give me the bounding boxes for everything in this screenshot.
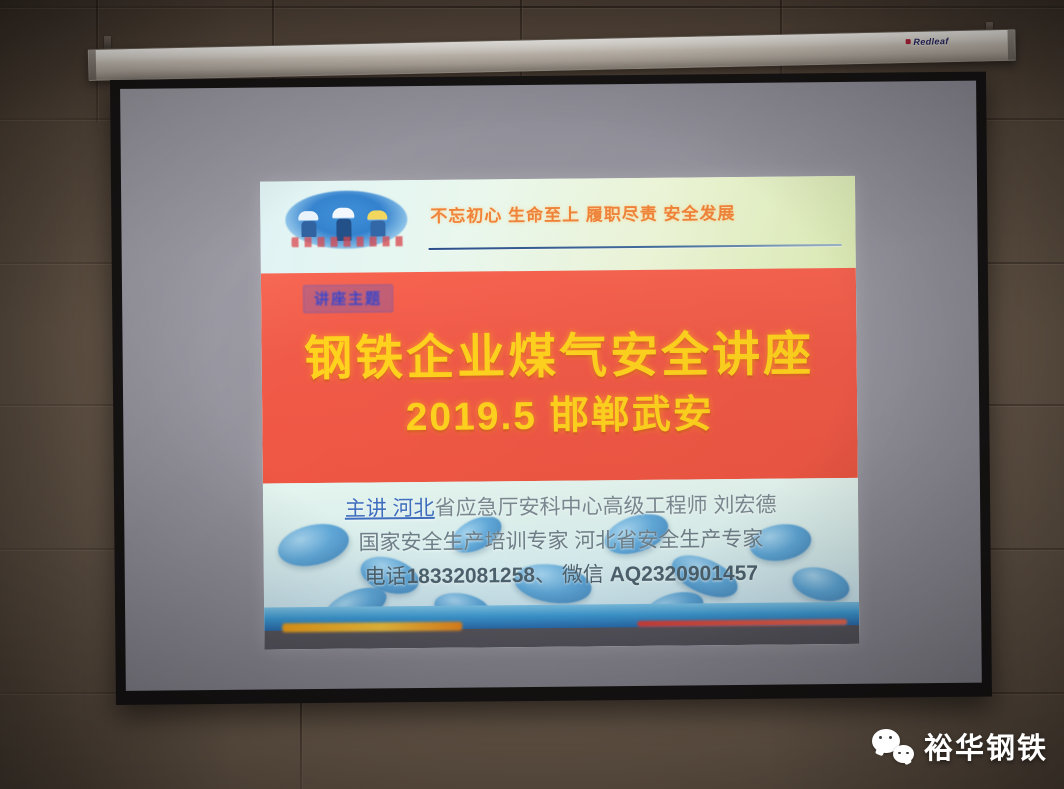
presentation-slide: 不忘初心 生命至上 履职尽责 安全发展 讲座主题 钢铁企业煤气安全讲座 2019… [260, 176, 859, 650]
channel-watermark: 裕华钢铁 [872, 725, 1048, 767]
watermark-text: 裕华钢铁 [924, 725, 1048, 767]
wechat-id: AQ2320901457 [610, 562, 759, 586]
casing-end-cap-left [89, 50, 97, 80]
footer-orange-accent [282, 622, 462, 633]
wall-panel-seam [0, 6, 1064, 8]
presenter-line-1-rest: 省应急厅安科中心高级工程师 刘宏德 [435, 494, 777, 520]
topic-badge: 讲座主题 [303, 284, 393, 313]
footer-red-accent [637, 619, 847, 627]
wechat-icon [872, 729, 914, 763]
slide-main-title: 钢铁企业煤气安全讲座 [261, 314, 857, 390]
emblem-worker-figure [367, 210, 387, 236]
slide-sub-title: 2019.5 邯郸武安 [262, 382, 858, 444]
presenter-line-1: 主讲 河北省应急厅安科中心高级工程师 刘宏德 [263, 488, 858, 524]
slide-header-rule [429, 244, 842, 250]
phone-label: 电话 [364, 565, 406, 588]
slide-slogan: 不忘初心 生命至上 履职尽责 安全发展 [430, 198, 833, 227]
screen-brand-label: Redleaf [905, 36, 949, 47]
presenter-line-2: 国家安全生产培训专家 河北省安全生产专家 [263, 522, 858, 558]
projection-screen-frame: 不忘初心 生命至上 履职尽责 安全发展 讲座主题 钢铁企业煤气安全讲座 2019… [110, 72, 992, 705]
brand-mark-icon [905, 39, 910, 44]
safety-production-emblem-icon [285, 190, 408, 249]
emblem-caption-strip [292, 236, 404, 247]
slide-title-band: 讲座主题 钢铁企业煤气安全讲座 2019.5 邯郸武安 [261, 268, 858, 484]
phone-number: 18332081258 [406, 564, 535, 588]
presenter-line-1-prefix: 主讲 河北 [345, 497, 435, 521]
brand-name-text: Redleaf [913, 36, 949, 47]
casing-end-cap-right [1007, 30, 1015, 60]
contact-separator: 、 [535, 564, 556, 587]
presenter-contact-line: 电话18332081258、 微信 AQ2320901457 [264, 556, 859, 592]
wall-panel-seam [300, 690, 302, 789]
screenshot-root: Redleaf 不忘初心 生命至上 履职尽责 安全发展 [0, 0, 1064, 789]
wechat-label: 微信 [562, 563, 604, 586]
emblem-worker-figure [298, 211, 318, 237]
slide-footer-band [264, 602, 859, 650]
projection-screen-surface: 不忘初心 生命至上 履职尽责 安全发展 讲座主题 钢铁企业煤气安全讲座 2019… [120, 81, 982, 691]
slide-header-band: 不忘初心 生命至上 履职尽责 安全发展 [260, 176, 856, 274]
